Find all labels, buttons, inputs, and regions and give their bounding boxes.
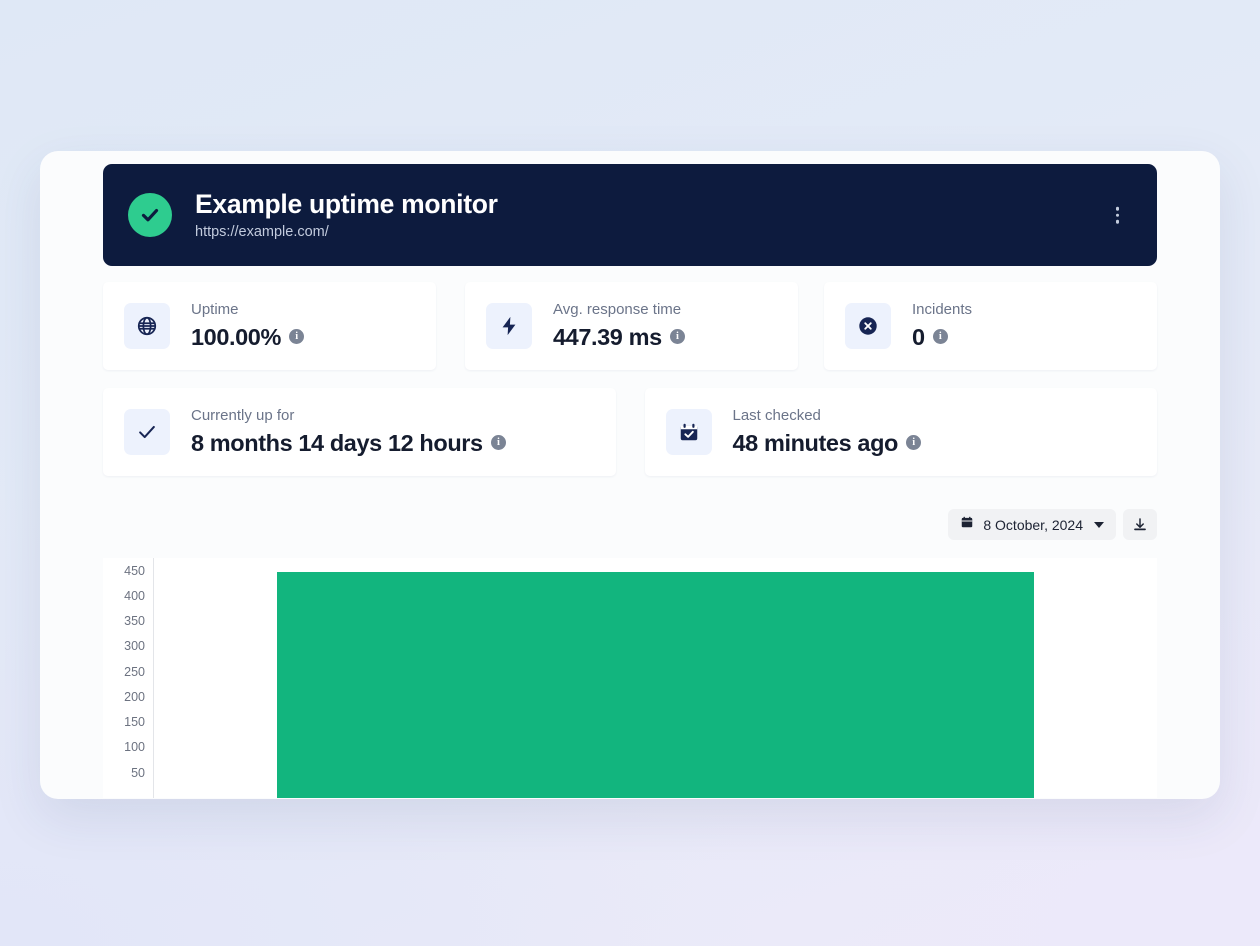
info-icon[interactable]: i	[289, 329, 304, 344]
kebab-dot	[1116, 213, 1120, 217]
stat-value-wrap: 100.00% i	[191, 323, 304, 351]
stat-card-currently-up-for: Currently up for 8 months 14 days 12 hou…	[103, 388, 616, 476]
stat-card-incidents: Incidents 0 i	[824, 282, 1157, 370]
chart-plot-area	[154, 558, 1157, 798]
stat-card-last-checked: Last checked 48 minutes ago i	[645, 388, 1158, 476]
stat-value: 48 minutes ago	[733, 429, 898, 457]
stat-label: Avg. response time	[553, 301, 685, 320]
monitor-header: Example uptime monitor https://example.c…	[103, 164, 1157, 266]
stat-body: Currently up for 8 months 14 days 12 hou…	[191, 407, 506, 457]
stat-body: Uptime 100.00% i	[191, 301, 304, 351]
y-axis-tick: 250	[124, 665, 145, 679]
globe-icon	[124, 303, 170, 349]
stat-label: Currently up for	[191, 407, 506, 426]
stats-row-secondary: Currently up for 8 months 14 days 12 hou…	[103, 388, 1157, 476]
calendar-icon	[960, 515, 974, 534]
stat-value: 0	[912, 323, 925, 351]
chart-bar[interactable]	[277, 572, 1034, 798]
y-axis-tick: 450	[124, 564, 145, 578]
stat-label: Incidents	[912, 301, 972, 320]
stat-value: 100.00%	[191, 323, 281, 351]
monitor-header-text: Example uptime monitor https://example.c…	[195, 189, 498, 242]
response-time-chart: 45040035030025020015010050	[103, 558, 1157, 798]
stat-body: Incidents 0 i	[912, 301, 972, 351]
lightning-bolt-icon	[486, 303, 532, 349]
check-icon	[124, 409, 170, 455]
download-button[interactable]	[1123, 509, 1157, 540]
kebab-dot	[1116, 207, 1120, 211]
stat-card-avg-response-time: Avg. response time 447.39 ms i	[465, 282, 798, 370]
y-axis-tick: 100	[124, 740, 145, 754]
calendar-check-icon	[666, 409, 712, 455]
stats-row-primary: Uptime 100.00% i Avg. response time	[103, 282, 1157, 370]
stat-value: 447.39 ms	[553, 323, 662, 351]
y-axis-tick: 150	[124, 715, 145, 729]
y-axis-tick: 50	[131, 766, 145, 780]
kebab-dot	[1116, 220, 1120, 224]
download-icon	[1132, 517, 1148, 533]
stat-body: Avg. response time 447.39 ms i	[553, 301, 685, 351]
spacer	[616, 388, 645, 476]
y-axis-tick: 300	[124, 639, 145, 653]
y-axis-tick: 350	[124, 614, 145, 628]
monitor-url: https://example.com/	[195, 224, 498, 241]
x-circle-icon	[845, 303, 891, 349]
stat-label: Last checked	[733, 407, 921, 426]
dashboard-window: Example uptime monitor https://example.c…	[40, 151, 1220, 799]
chart-toolbar: 8 October, 2024	[103, 509, 1157, 540]
kebab-menu-icon[interactable]	[1108, 201, 1128, 230]
chevron-down-icon	[1094, 522, 1104, 528]
window-content: Example uptime monitor https://example.c…	[40, 164, 1220, 798]
stat-value: 8 months 14 days 12 hours	[191, 429, 483, 457]
check-circle-icon	[128, 193, 172, 237]
info-icon[interactable]: i	[906, 435, 921, 450]
stat-body: Last checked 48 minutes ago i	[733, 407, 921, 457]
chart-y-axis: 45040035030025020015010050	[103, 558, 153, 798]
date-picker[interactable]: 8 October, 2024	[948, 509, 1116, 540]
info-icon[interactable]: i	[491, 435, 506, 450]
stat-card-uptime: Uptime 100.00% i	[103, 282, 436, 370]
stat-value-wrap: 447.39 ms i	[553, 323, 685, 351]
info-icon[interactable]: i	[670, 329, 685, 344]
stat-value-wrap: 8 months 14 days 12 hours i	[191, 429, 506, 457]
stat-label: Uptime	[191, 301, 304, 320]
date-picker-label: 8 October, 2024	[983, 517, 1083, 533]
y-axis-tick: 400	[124, 589, 145, 603]
y-axis-tick: 200	[124, 690, 145, 704]
info-icon[interactable]: i	[933, 329, 948, 344]
monitor-title: Example uptime monitor	[195, 189, 498, 219]
stat-value-wrap: 0 i	[912, 323, 972, 351]
stat-value-wrap: 48 minutes ago i	[733, 429, 921, 457]
spacer	[436, 282, 465, 370]
spacer	[798, 282, 824, 370]
